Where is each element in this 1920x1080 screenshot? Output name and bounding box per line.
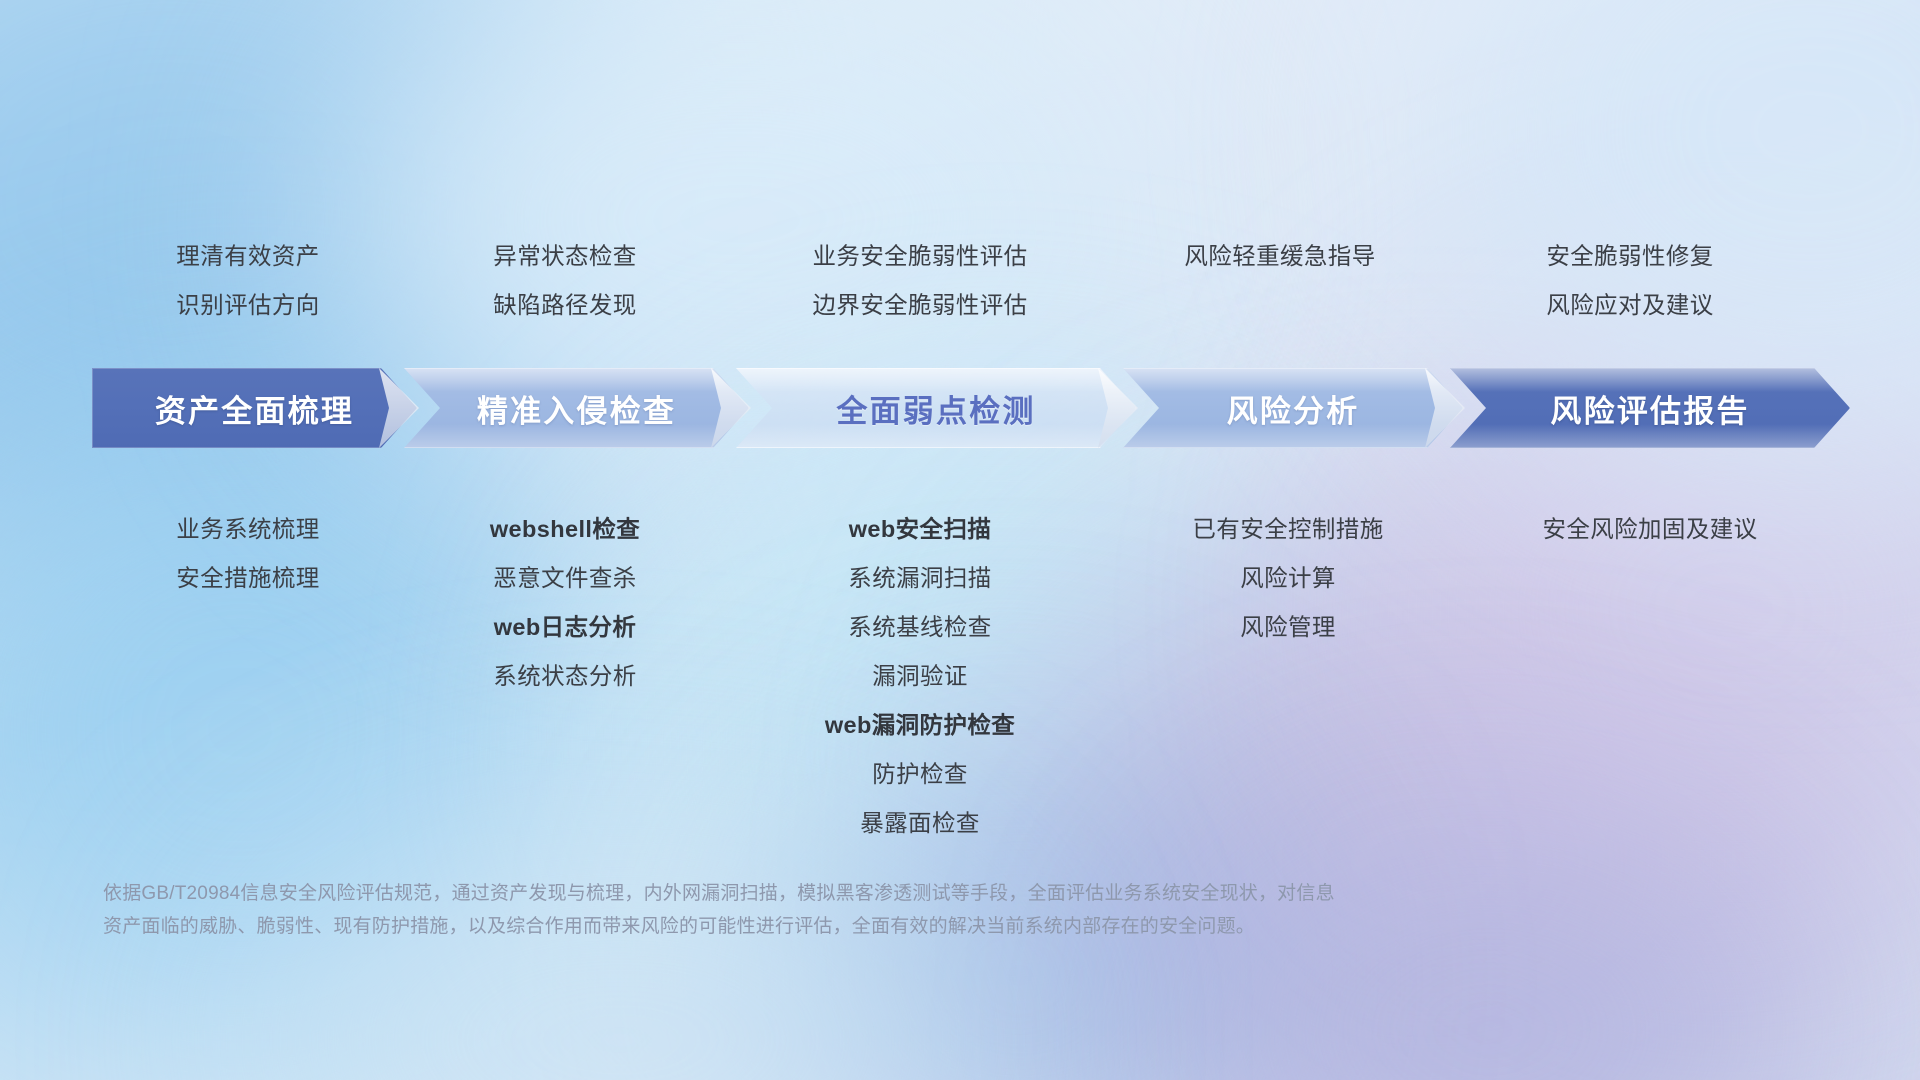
stage-3-bottom-item-6: 防护检查 bbox=[730, 750, 1110, 799]
stage-2-top-item-2: 缺陷路径发现 bbox=[420, 281, 710, 330]
stage-2-bottom-items: webshell检查 恶意文件查杀 web日志分析 系统状态分析 bbox=[420, 505, 710, 701]
stage-2-top-item-1: 异常状态检查 bbox=[420, 232, 710, 281]
stage-3-bottom-item-5: web漏洞防护检查 bbox=[730, 701, 1110, 750]
stage-3-top-item-2: 边界安全脆弱性评估 bbox=[710, 281, 1130, 330]
stage-1-top-item-2: 识别评估方向 bbox=[103, 281, 393, 330]
chevron-stage-2-label: 精准入侵检查 bbox=[477, 386, 676, 431]
stage-5-bottom-item-1: 安全风险加固及建议 bbox=[1450, 505, 1850, 554]
process-chevron-band: 资产全面梳理 精准入侵检查 全面弱点检测 风险分析 风险评估报告 bbox=[0, 368, 1920, 448]
stage-4-bottom-item-1: 已有安全控制措施 bbox=[1128, 505, 1448, 554]
stage-2-bottom-item-2: 恶意文件查杀 bbox=[420, 554, 710, 603]
stage-3-bottom-item-3: 系统基线检查 bbox=[730, 603, 1110, 652]
stage-1-bottom-items: 业务系统梳理 安全措施梳理 bbox=[103, 505, 393, 603]
stage-3-top-item-1: 业务安全脆弱性评估 bbox=[710, 232, 1130, 281]
footer-line-2: 资产面临的威胁、脆弱性、现有防护措施，以及综合作用而带来风险的可能性进行评估，全… bbox=[103, 910, 1633, 943]
stage-1-bottom-item-1: 业务系统梳理 bbox=[103, 505, 393, 554]
chevron-stage-4-label: 风险分析 bbox=[1227, 386, 1360, 431]
chevron-stage-5[interactable]: 风险评估报告 bbox=[1450, 368, 1850, 448]
chevron-stage-3-label: 全面弱点检测 bbox=[836, 386, 1035, 431]
stage-3-bottom-item-4: 漏洞验证 bbox=[730, 652, 1110, 701]
stage-3-top-items: 业务安全脆弱性评估 边界安全脆弱性评估 bbox=[710, 232, 1130, 330]
stage-1-top-items: 理清有效资产 识别评估方向 bbox=[103, 232, 393, 330]
process-diagram: 理清有效资产 识别评估方向 异常状态检查 缺陷路径发现 业务安全脆弱性评估 边界… bbox=[0, 0, 1920, 1080]
stage-3-bottom-item-1: web安全扫描 bbox=[730, 505, 1110, 554]
stage-5-top-item-2: 风险应对及建议 bbox=[1450, 281, 1810, 330]
stage-4-top-item-1: 风险轻重缓急指导 bbox=[1100, 232, 1460, 281]
footer-line-1: 依据GB/T20984信息安全风险评估规范，通过资产发现与梳理，内外网漏洞扫描，… bbox=[103, 877, 1633, 910]
top-items-row: 理清有效资产 识别评估方向 异常状态检查 缺陷路径发现 业务安全脆弱性评估 边界… bbox=[0, 232, 1920, 342]
stage-2-top-items: 异常状态检查 缺陷路径发现 bbox=[420, 232, 710, 330]
stage-4-bottom-item-2: 风险计算 bbox=[1128, 554, 1448, 603]
chevron-stage-3[interactable]: 全面弱点检测 bbox=[736, 368, 1136, 448]
chevron-stage-1[interactable]: 资产全面梳理 bbox=[92, 368, 417, 448]
chevron-stage-1-label: 资产全面梳理 bbox=[155, 386, 354, 431]
stage-2-bottom-item-3: web日志分析 bbox=[420, 603, 710, 652]
stage-1-bottom-item-2: 安全措施梳理 bbox=[103, 554, 393, 603]
stage-4-top-items: 风险轻重缓急指导 bbox=[1100, 232, 1460, 281]
stage-5-bottom-items: 安全风险加固及建议 bbox=[1450, 505, 1850, 554]
stage-2-bottom-item-1: webshell检查 bbox=[420, 505, 710, 554]
stage-3-bottom-item-7: 暴露面检查 bbox=[730, 799, 1110, 848]
stage-3-bottom-item-2: 系统漏洞扫描 bbox=[730, 554, 1110, 603]
stage-5-top-items: 安全脆弱性修复 风险应对及建议 bbox=[1450, 232, 1810, 330]
stage-2-bottom-item-4: 系统状态分析 bbox=[420, 652, 710, 701]
stage-1-top-item-1: 理清有效资产 bbox=[103, 232, 393, 281]
chevron-stage-4[interactable]: 风险分析 bbox=[1123, 368, 1463, 448]
stage-4-bottom-item-3: 风险管理 bbox=[1128, 603, 1448, 652]
chevron-stage-2[interactable]: 精准入侵检查 bbox=[404, 368, 749, 448]
stage-5-top-item-1: 安全脆弱性修复 bbox=[1450, 232, 1810, 281]
stage-3-bottom-items: web安全扫描 系统漏洞扫描 系统基线检查 漏洞验证 web漏洞防护检查 防护检… bbox=[730, 505, 1110, 848]
footer-description: 依据GB/T20984信息安全风险评估规范，通过资产发现与梳理，内外网漏洞扫描，… bbox=[103, 877, 1633, 943]
chevron-stage-5-label: 风险评估报告 bbox=[1550, 386, 1749, 431]
stage-4-bottom-items: 已有安全控制措施 风险计算 风险管理 bbox=[1128, 505, 1448, 652]
